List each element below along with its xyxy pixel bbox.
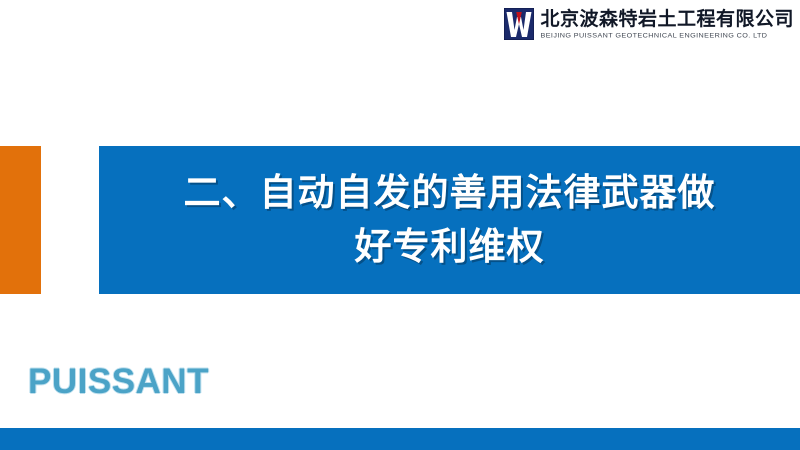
left-orange-accent-block	[0, 146, 41, 294]
title-panel: 二、自动自发的善用法律武器做 好专利维权	[99, 146, 800, 294]
brand-lockup: 北京波森特岩土工程有限公司 BEIJING PUISSANT GEOTECHNI…	[504, 8, 794, 41]
puissant-mountain-w-logo-icon	[504, 8, 534, 40]
company-name-cn: 北京波森特岩土工程有限公司	[540, 8, 794, 30]
company-name-en: BEIJING PUISSANT GEOTECHNICAL ENGINEERIN…	[540, 31, 767, 40]
title-line-1: 二、自动自发的善用法律武器做	[184, 166, 716, 220]
slide-canvas: 北京波森特岩土工程有限公司 BEIJING PUISSANT GEOTECHNI…	[0, 0, 800, 450]
brand-text-group: 北京波森特岩土工程有限公司 BEIJING PUISSANT GEOTECHNI…	[540, 8, 794, 41]
title-line-2: 好专利维权	[355, 220, 545, 274]
footer-wordmark: PUISSANT	[28, 362, 209, 402]
bottom-accent-bar	[0, 428, 800, 450]
